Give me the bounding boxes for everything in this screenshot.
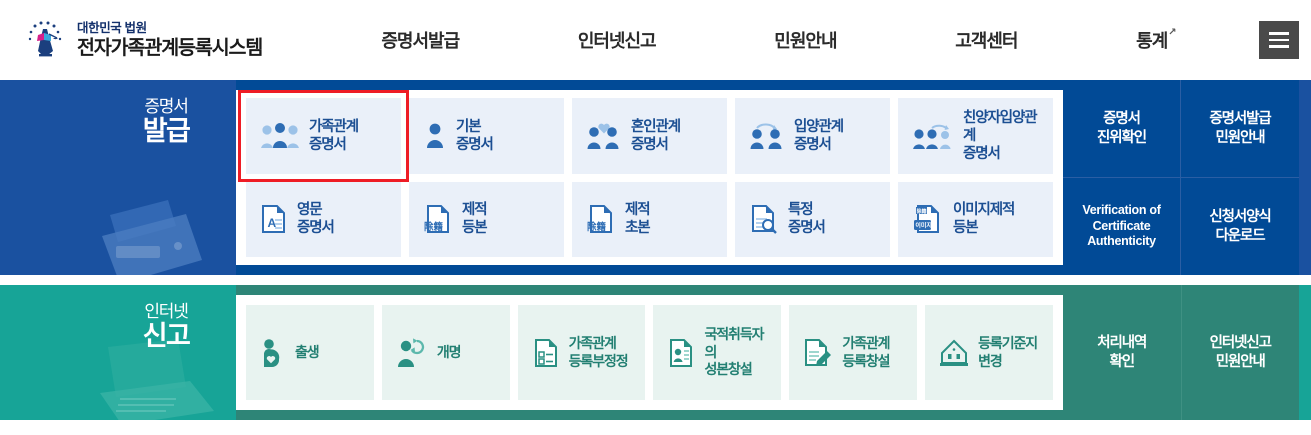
section-right-rail bbox=[1299, 80, 1311, 275]
card-family-register-creation[interactable]: 가족관계 등록창설 bbox=[789, 305, 917, 400]
pregnant-person-heart-icon bbox=[260, 338, 286, 368]
svg-text:除籍: 除籍 bbox=[587, 221, 607, 233]
report-card-row: 출생 개명 bbox=[246, 305, 1053, 400]
quick-links-column-right: 증명서발급 민원안내 신청서양식 다운로드 bbox=[1181, 80, 1299, 275]
nav-item-internet-report[interactable]: 인터넷신고 bbox=[578, 27, 656, 53]
section-divider bbox=[0, 275, 1311, 285]
card-english-certificate[interactable]: A 영문 증명서 bbox=[246, 182, 401, 258]
card-label: 특정 증명서 bbox=[788, 201, 825, 237]
site-logo[interactable]: 대한민국 법원 전자가족관계등록시스템 bbox=[22, 17, 322, 63]
external-link-icon: ↗ bbox=[1168, 27, 1175, 39]
report-section-title: 인터넷 신고 bbox=[96, 285, 236, 420]
nav-item-customer-center[interactable]: 고객센터 bbox=[955, 27, 1017, 53]
internet-report-section: 인터넷 신고 출생 bbox=[0, 285, 1311, 420]
certificate-card-row-2: A 영문 증명서 除籍 제적 등본 bbox=[246, 182, 1053, 258]
card-full-adoption-relation-certificate[interactable]: 친양자입양관계 증명서 bbox=[898, 98, 1053, 174]
card-label: 입양관계 증명서 bbox=[794, 118, 843, 154]
card-naturalized-surname-creation[interactable]: 국적취득자의 성본창설 bbox=[653, 305, 781, 400]
nav-item-civil-guide[interactable]: 민원안내 bbox=[774, 27, 836, 53]
nav-label: 통계 bbox=[1136, 27, 1167, 53]
card-specific-certificate[interactable]: 특정 증명서 bbox=[735, 182, 890, 258]
three-people-icon bbox=[260, 123, 300, 149]
card-label: 출생 bbox=[295, 344, 319, 362]
certificate-issuance-section: 증명서 발급 가족관계 증명서 bbox=[0, 80, 1311, 275]
nav-label: 증명서발급 bbox=[381, 27, 459, 53]
hamburger-bar bbox=[1269, 45, 1289, 48]
link-certificate-authenticity-check[interactable]: 증명서 진위확인 bbox=[1063, 80, 1181, 178]
report-cards-panel: 출생 개명 bbox=[236, 295, 1063, 410]
person-refresh-icon bbox=[396, 338, 428, 368]
quick-links-column-left: 증명서 진위확인 Verification of Certificate Aut… bbox=[1063, 80, 1181, 275]
hamburger-bar bbox=[1269, 39, 1289, 42]
couple-heart-icon bbox=[586, 122, 622, 150]
court-emblem-icon bbox=[22, 17, 68, 63]
card-adoption-relation-certificate[interactable]: 입양관계 증명서 bbox=[735, 98, 890, 174]
svg-text:이미지: 이미지 bbox=[915, 222, 932, 230]
person-icon bbox=[423, 123, 447, 149]
section-title-line2: 발급 bbox=[143, 117, 189, 147]
document-portrait-icon bbox=[667, 338, 695, 368]
card-basic-certificate[interactable]: 기본 증명서 bbox=[409, 98, 564, 174]
quick-links-column-right: 인터넷신고 민원안내 bbox=[1182, 285, 1300, 420]
card-label: 이미지제적 등본 bbox=[953, 201, 1014, 237]
card-removed-register-copy[interactable]: 除籍 제적 등본 bbox=[409, 182, 564, 258]
logo-title: 전자가족관계등록시스템 bbox=[77, 37, 262, 59]
report-quick-links: 처리내역 확인 인터넷신고 민원안내 bbox=[1063, 285, 1299, 420]
card-label: 영문 증명서 bbox=[297, 201, 334, 237]
section-title-line2: 신고 bbox=[143, 322, 189, 352]
certificate-card-row-1: 가족관계 증명서 기본 증명서 혼인관계 증 bbox=[246, 98, 1053, 174]
nav-label: 고객센터 bbox=[955, 27, 1017, 53]
card-family-register-correction[interactable]: 가족관계 등록부정정 bbox=[518, 305, 646, 400]
card-label: 개명 bbox=[437, 344, 461, 362]
card-label: 가족관계 증명서 bbox=[309, 118, 358, 154]
link-certificate-issuance-guide[interactable]: 증명서발급 민원안내 bbox=[1181, 80, 1299, 178]
section-title-line1: 증명서 bbox=[144, 92, 187, 117]
document-letter-a-icon: A bbox=[260, 204, 288, 234]
certificate-section-title: 증명서 발급 bbox=[96, 80, 236, 275]
card-removed-register-extract[interactable]: 除籍 제적 초본 bbox=[572, 182, 727, 258]
three-people-arrow-icon bbox=[912, 122, 954, 150]
card-label: 친양자입양관계 증명서 bbox=[963, 109, 1045, 163]
document-pencil-icon bbox=[803, 338, 833, 368]
link-internet-report-guide[interactable]: 인터넷신고 민원안내 bbox=[1182, 285, 1300, 420]
hamburger-bar bbox=[1269, 32, 1289, 35]
section-left-edge bbox=[0, 285, 96, 420]
card-name-change-report[interactable]: 개명 bbox=[382, 305, 510, 400]
card-family-relation-certificate[interactable]: 가족관계 증명서 bbox=[246, 98, 401, 174]
quick-links-column-left: 처리내역 확인 bbox=[1063, 285, 1182, 420]
link-processing-history-check[interactable]: 처리내역 확인 bbox=[1063, 285, 1181, 420]
link-verification-of-certificate-authenticity[interactable]: Verification of Certificate Authenticity bbox=[1063, 178, 1181, 275]
card-registration-base-address-change[interactable]: 등록기준지 변경 bbox=[925, 305, 1053, 400]
site-header: 대한민국 법원 전자가족관계등록시스템 증명서발급 인터넷신고 민원안내 고객센… bbox=[0, 0, 1311, 80]
card-image-removed-register-copy[interactable]: 除籍 이미지 이미지제적 등본 bbox=[898, 182, 1053, 258]
main-navigation: 증명서발급 인터넷신고 민원안내 고객센터 통계 ↗ bbox=[322, 27, 1245, 53]
nav-item-statistics[interactable]: 통계 ↗ bbox=[1136, 27, 1176, 53]
card-label: 등록기준지 변경 bbox=[978, 335, 1037, 370]
card-label: 기본 증명서 bbox=[456, 118, 493, 154]
document-jejeok-icon: 除籍 bbox=[423, 204, 453, 234]
card-label: 제적 초본 bbox=[625, 201, 649, 237]
document-magnifier-icon bbox=[749, 204, 779, 234]
link-application-form-download[interactable]: 신청서양식 다운로드 bbox=[1181, 178, 1299, 275]
document-image-icon: 除籍 이미지 bbox=[912, 204, 944, 234]
card-label: 제적 등본 bbox=[462, 201, 486, 237]
hamburger-menu-button[interactable] bbox=[1259, 21, 1299, 59]
card-label: 혼인관계 증명서 bbox=[631, 118, 680, 154]
section-right-rail bbox=[1299, 285, 1311, 420]
card-birth-report[interactable]: 출생 bbox=[246, 305, 374, 400]
document-checklist-icon bbox=[532, 338, 560, 368]
two-people-arrow-icon bbox=[749, 122, 785, 150]
section-left-edge bbox=[0, 80, 96, 275]
document-jejeok-icon: 除籍 bbox=[586, 204, 616, 234]
svg-text:除籍: 除籍 bbox=[917, 208, 927, 215]
house-icon bbox=[939, 338, 969, 368]
card-marriage-relation-certificate[interactable]: 혼인관계 증명서 bbox=[572, 98, 727, 174]
nav-item-certificates[interactable]: 증명서발급 bbox=[381, 27, 459, 53]
nav-label: 인터넷신고 bbox=[578, 27, 656, 53]
svg-text:除籍: 除籍 bbox=[424, 221, 444, 233]
certificate-cards-panel: 가족관계 증명서 기본 증명서 혼인관계 증 bbox=[236, 90, 1063, 265]
section-title-line1: 인터넷 bbox=[144, 297, 187, 322]
printer-illustration bbox=[96, 180, 236, 275]
card-label: 가족관계 등록창설 bbox=[842, 335, 889, 370]
card-label: 가족관계 등록부정정 bbox=[569, 335, 628, 370]
card-label: 국적취득자의 성본창설 bbox=[704, 326, 773, 379]
logo-subtitle: 대한민국 법원 bbox=[77, 21, 262, 35]
certificate-quick-links: 증명서 진위확인 Verification of Certificate Aut… bbox=[1063, 80, 1299, 275]
nav-label: 민원안내 bbox=[774, 27, 836, 53]
